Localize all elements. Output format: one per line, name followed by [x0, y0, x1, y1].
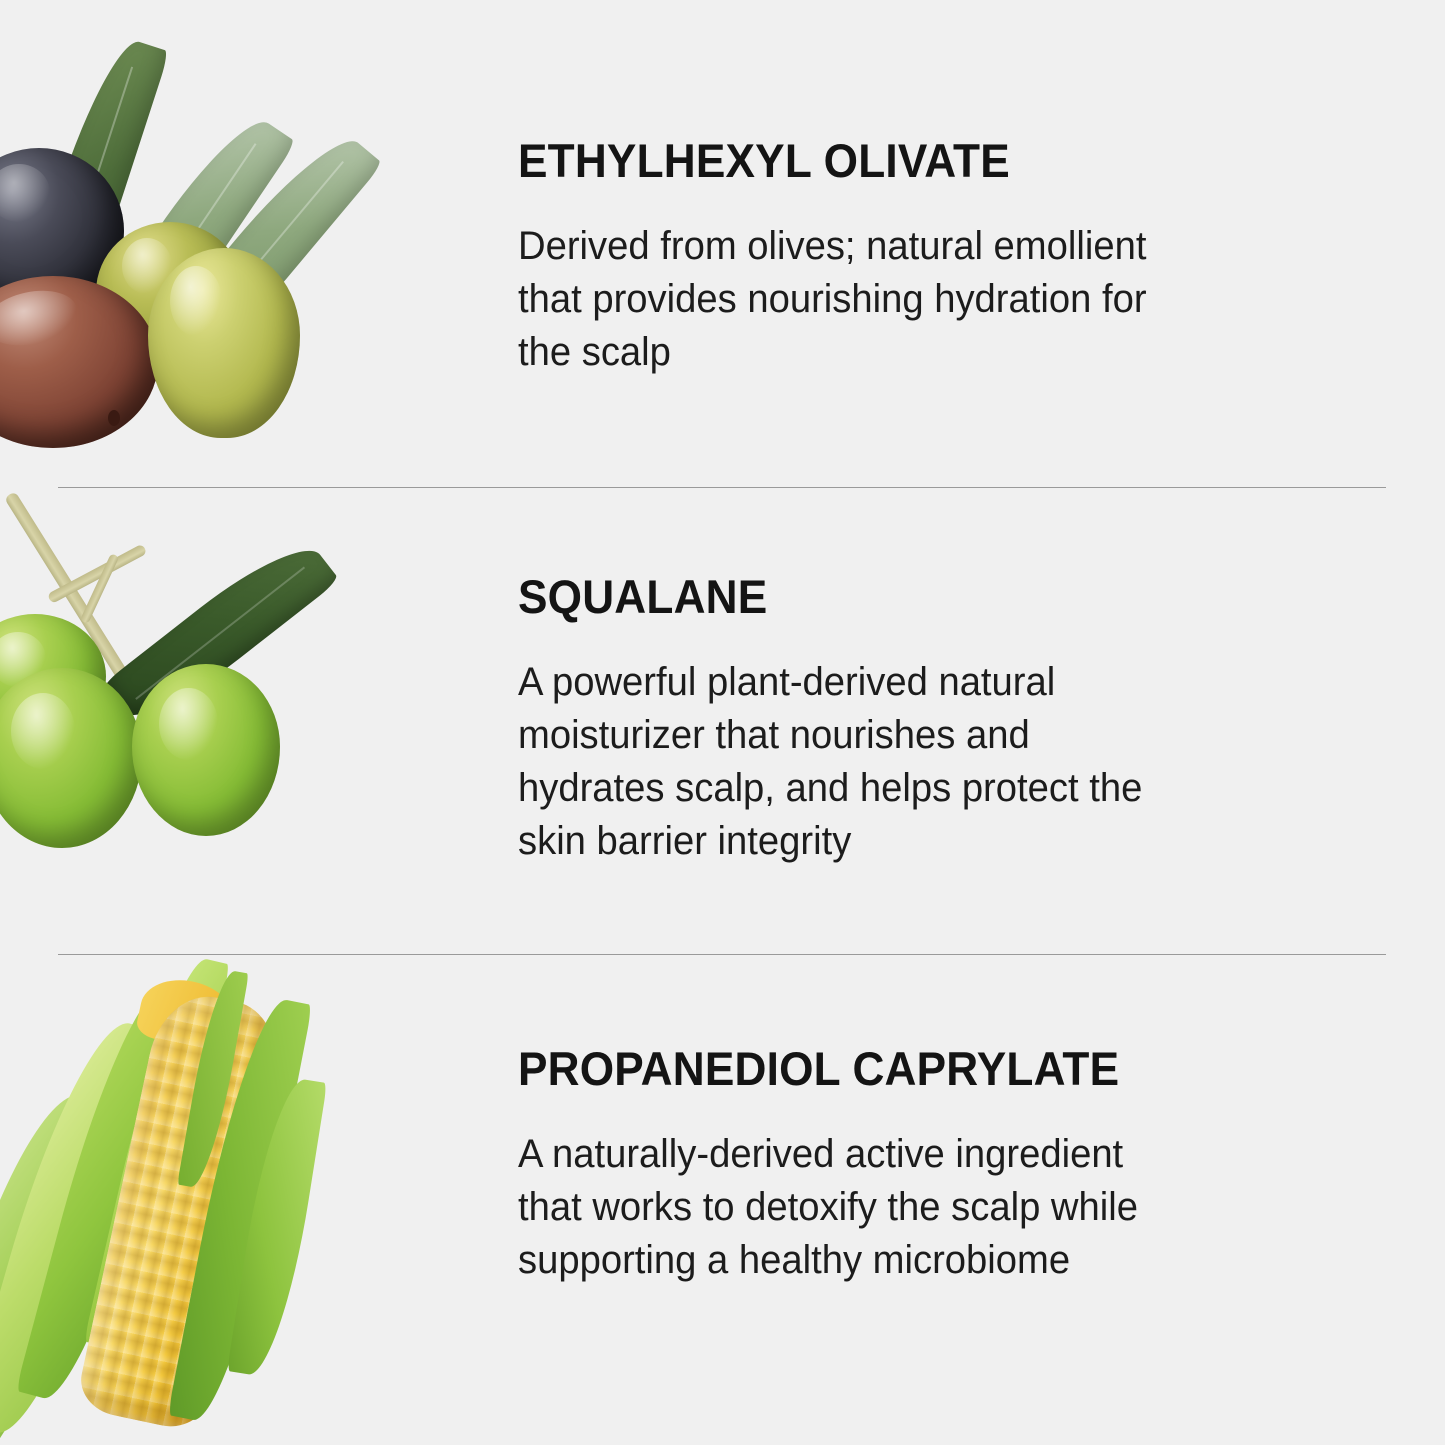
- ingredient-description: A powerful plant-derived natural moistur…: [518, 656, 1187, 868]
- ingredient-description: Derived from olives; natural emollient t…: [518, 220, 1187, 379]
- corn-cob-photo: [0, 955, 470, 1445]
- olive-branch-illustration: [0, 488, 470, 954]
- green-olive-fruit: [0, 668, 142, 848]
- ingredient-title: ETHYLHEXYL OLIVATE: [518, 137, 1176, 184]
- mixed-olives-illustration: [0, 0, 470, 487]
- ingredient-section-propanediol-caprylate: PROPANEDIOL CAPRYLATE A naturally-derive…: [0, 955, 1445, 1445]
- green-olive-fruit: [132, 664, 280, 836]
- ingredient-section-ethylhexyl-olivate: ETHYLHEXYL OLIVATE Derived from olives; …: [0, 0, 1445, 487]
- ingredient-section-squalane: SQUALANE A powerful plant-derived natura…: [0, 488, 1445, 954]
- green-olives-branch-photo: [0, 488, 470, 954]
- ingredient-text-block: ETHYLHEXYL OLIVATE Derived from olives; …: [518, 137, 1218, 379]
- branch-stem: [80, 553, 119, 624]
- ingredients-infographic: ETHYLHEXYL OLIVATE Derived from olives; …: [0, 0, 1445, 1445]
- ingredient-text-block: PROPANEDIOL CAPRYLATE A naturally-derive…: [518, 1045, 1218, 1287]
- ingredient-title: PROPANEDIOL CAPRYLATE: [518, 1045, 1176, 1092]
- corn-illustration: [0, 955, 470, 1445]
- ingredient-title: SQUALANE: [518, 573, 1176, 620]
- green-olive-fruit: [148, 248, 300, 438]
- ingredient-text-block: SQUALANE A powerful plant-derived natura…: [518, 573, 1218, 868]
- ingredient-description: A naturally-derived active ingredient th…: [518, 1128, 1187, 1287]
- mixed-olives-photo: [0, 0, 470, 487]
